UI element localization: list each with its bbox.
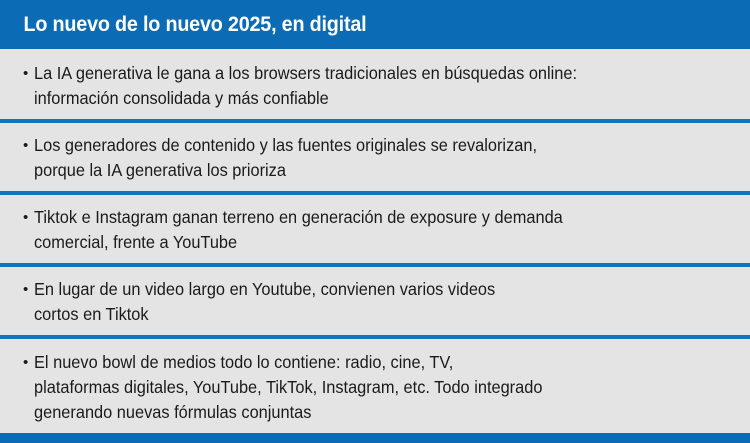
page-title: Lo nuevo de lo nuevo 2025, en digital xyxy=(0,13,366,37)
bullet-point-icon: • xyxy=(23,277,34,302)
bullet-point-icon: • xyxy=(23,350,34,375)
bullet-list: • La IA generativa le gana a los browser… xyxy=(0,49,750,433)
bullet-point-icon: • xyxy=(23,61,34,86)
list-item: • Los generadores de contenido y las fue… xyxy=(0,123,750,191)
list-item: • El nuevo bowl de medios todo lo contie… xyxy=(0,339,750,433)
list-item-text: Los generadores de contenido y las fuent… xyxy=(34,133,687,183)
list-item: • La IA generativa le gana a los browser… xyxy=(0,49,750,119)
list-item-text: El nuevo bowl de medios todo lo contiene… xyxy=(34,350,687,425)
list-item-text: La IA generativa le gana a los browsers … xyxy=(34,61,687,111)
bullet-point-icon: • xyxy=(23,205,34,230)
list-item-text: Tiktok e Instagram ganan terreno en gene… xyxy=(34,205,687,255)
bullet-point-icon: • xyxy=(23,133,34,158)
infographic-card: Lo nuevo de lo nuevo 2025, en digital • … xyxy=(0,0,750,400)
list-item: • Tiktok e Instagram ganan terreno en ge… xyxy=(0,195,750,263)
list-item: • En lugar de un video largo en Youtube,… xyxy=(0,267,750,335)
header-band: Lo nuevo de lo nuevo 2025, en digital xyxy=(0,0,750,49)
footer-band xyxy=(0,433,750,443)
list-item-text: En lugar de un video largo en Youtube, c… xyxy=(34,277,687,327)
